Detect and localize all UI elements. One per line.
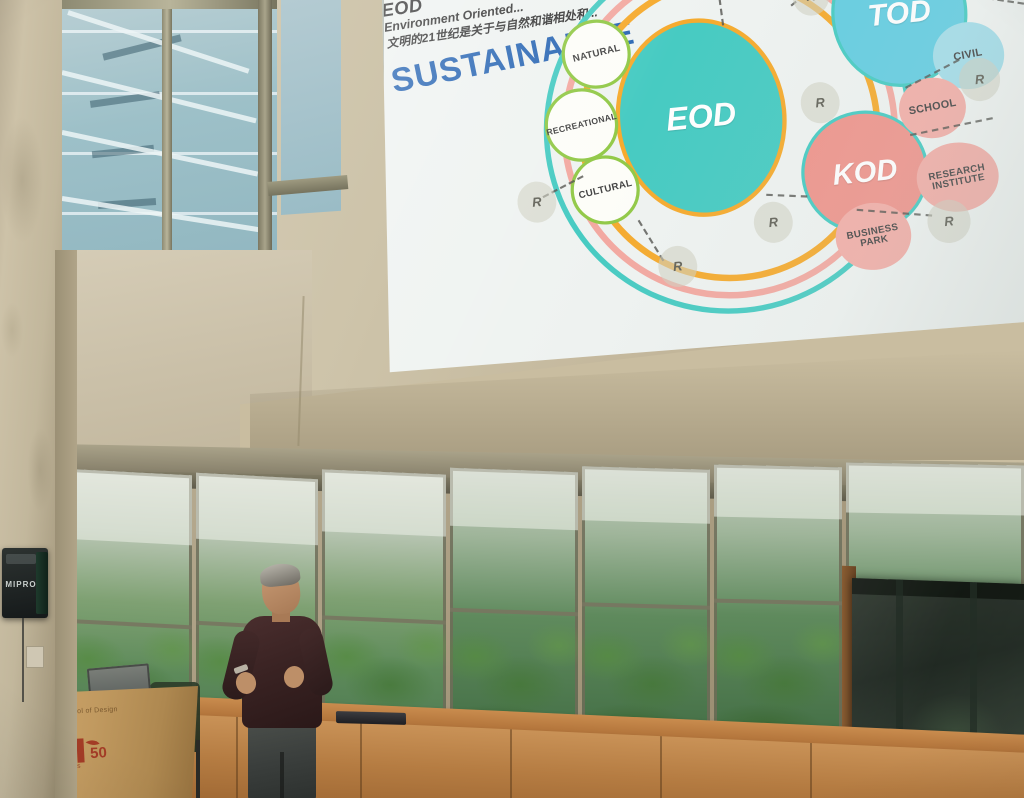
speaker-side-panel bbox=[36, 552, 48, 614]
window-bay-6 bbox=[714, 465, 842, 740]
concrete-column bbox=[0, 0, 62, 798]
satellite-school-label: SCHOOL bbox=[908, 98, 957, 118]
window-bay-4 bbox=[450, 468, 578, 740]
bubble-diagram: EOD NATURAL RECREATIONAL CULTURAL TOD bbox=[455, 0, 1024, 384]
presentation-room-photo: EOD Environment Oriented... 文明的21世纪是关于与自… bbox=[0, 0, 1024, 798]
r-node-3-label: R bbox=[805, 0, 816, 4]
r-node-9-label: R bbox=[672, 258, 683, 274]
speaker-grille bbox=[6, 554, 36, 564]
r-node-5-label: R bbox=[815, 95, 826, 111]
projected-slide: EOD Environment Oriented... 文明的21世纪是关于与自… bbox=[382, 0, 1024, 384]
r-node-8-label: R bbox=[532, 194, 543, 210]
r-node-10-label: R bbox=[768, 214, 779, 230]
closed-laptop-on-counter[interactable] bbox=[336, 711, 406, 725]
svg-text:50: 50 bbox=[90, 744, 108, 762]
satellite-recreational-label: RECREATIONAL bbox=[545, 112, 617, 138]
core-bubble-eod-label: EOD bbox=[665, 97, 738, 138]
r-node-7-label: R bbox=[944, 213, 955, 229]
r-node-6-label: R bbox=[974, 71, 985, 87]
speaker-cable bbox=[22, 618, 24, 702]
projection-screen: EOD Environment Oriented... 文明的21世纪是关于与自… bbox=[382, 0, 1024, 384]
speaker-brand-label: MIPRO bbox=[2, 580, 40, 589]
concrete-column-edge bbox=[55, 250, 77, 798]
core-bubble-tod-label: TOD bbox=[866, 0, 932, 32]
chair-leg bbox=[196, 740, 200, 798]
satellite-natural-label: NATURAL bbox=[571, 43, 621, 64]
window-bay-3 bbox=[322, 469, 446, 740]
window-bay-5 bbox=[582, 466, 710, 740]
satellite-cultural-label: CULTURAL bbox=[577, 179, 633, 202]
presenter bbox=[226, 566, 336, 798]
wall-outlet bbox=[26, 646, 44, 668]
satellite-business-park-label: BUSINESS PARK bbox=[834, 219, 912, 253]
core-bubble-kod-label: KOD bbox=[831, 154, 898, 191]
satellite-research-institute-label: RESEARCH INSTITUTE bbox=[915, 160, 999, 195]
presenter-leg-seam bbox=[280, 752, 284, 798]
